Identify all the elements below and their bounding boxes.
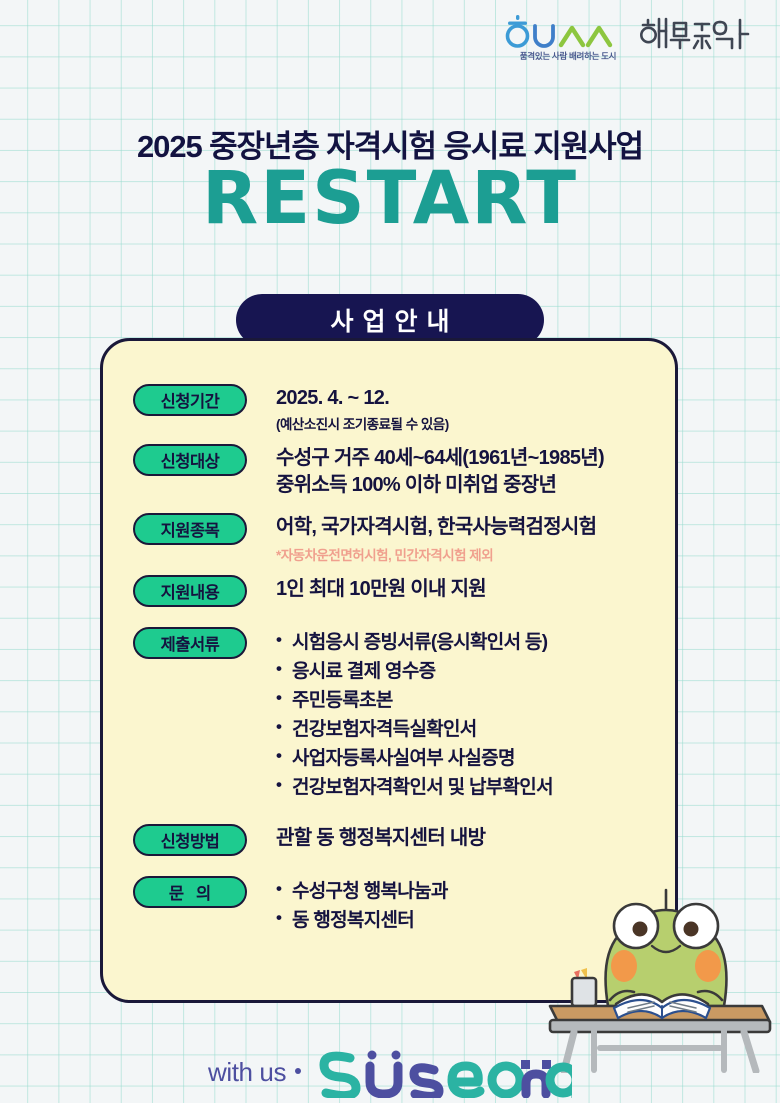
value-eligibility-line2: 중위소득 100% 이하 미취업 중장년 xyxy=(276,472,678,499)
footer-lockup: with us xyxy=(0,1046,780,1098)
poster-canvas: 품격있는 사람 배려하는 도시 xyxy=(0,0,780,1103)
subnote-application-period: (예산소진시 조기종료될 수 있음) xyxy=(276,413,678,433)
list-item: 건강보험자격확인서 및 납부확인서 xyxy=(276,773,678,802)
value-eligibility-line1: 수성구 거주 40세~64세(1961년~1985년) xyxy=(276,445,678,472)
label-pill-how-to-apply: 신청방법 xyxy=(133,824,247,856)
info-row-how-to-apply: 신청방법 관할 동 행정복지센터 내방 xyxy=(100,824,678,856)
suseong-symbol-mark: 품격있는 사람 배려하는 도시 xyxy=(504,15,632,62)
list-item: 사업자등록사실여부 사실증명 xyxy=(276,744,678,773)
brand-lockup: 품격있는 사람 배려하는 도시 xyxy=(504,14,766,62)
row-body-support-amount: 1인 최대 10만원 이내 지원 xyxy=(276,575,678,603)
footer-with-us-text: with us xyxy=(208,1057,286,1088)
value-how-to-apply: 관할 동 행정복지센터 내방 xyxy=(276,825,678,852)
required-documents-list: 시험응시 증빙서류(응시확인서 등) 응시료 결제 영수증 주민등록초본 건강보… xyxy=(276,628,678,802)
list-item: 건강보험자격득실확인서 xyxy=(276,715,678,744)
suseong-symbol-icon xyxy=(504,15,632,49)
list-item: 주민등록초본 xyxy=(276,686,678,715)
row-body-how-to-apply: 관할 동 행정복지센터 내방 xyxy=(276,824,678,852)
label-pill-support-amount: 지원내용 xyxy=(133,575,247,607)
label-pill-supported-exams: 지원종목 xyxy=(133,513,247,545)
info-row-supported-exams: 지원종목 어학, 국가자격시험, 한국사능력검정시험 *자동차운전면허시험, 민… xyxy=(100,513,678,564)
exclusion-note: *자동차운전면허시험, 민간자격시험 제외 xyxy=(276,544,678,564)
row-body-eligibility: 수성구 거주 40세~64세(1961년~1985년) 중위소득 100% 이하… xyxy=(276,444,678,499)
info-row-application-period: 신청기간 2025. 4. ~ 12. (예산소진시 조기종료될 수 있음) xyxy=(100,384,678,433)
row-body-required-documents: 시험응시 증빙서류(응시확인서 등) 응시료 결제 영수증 주민등록초본 건강보… xyxy=(276,627,678,802)
list-item: 응시료 결제 영수증 xyxy=(276,657,678,686)
happy-suseong-wordmark-icon xyxy=(640,14,766,62)
value-support-amount: 1인 최대 10만원 이내 지원 xyxy=(276,576,678,603)
suseong-wordmark-icon xyxy=(310,1046,572,1098)
restart-wordmark: RESTART xyxy=(0,162,780,235)
row-body-application-period: 2025. 4. ~ 12. (예산소진시 조기종료될 수 있음) xyxy=(276,384,678,433)
info-rows: 신청기간 2025. 4. ~ 12. (예산소진시 조기종료될 수 있음) 신… xyxy=(100,384,678,946)
label-pill-contact: 문의 xyxy=(133,876,247,908)
list-item: 시험응시 증빙서류(응시확인서 등) xyxy=(276,628,678,657)
value-application-period: 2025. 4. ~ 12. xyxy=(276,385,678,412)
label-pill-application-period: 신청기간 xyxy=(133,384,247,416)
label-pill-required-documents: 제출서류 xyxy=(133,627,247,659)
info-row-required-documents: 제출서류 시험응시 증빙서류(응시확인서 등) 응시료 결제 영수증 주민등록초… xyxy=(100,627,678,802)
info-row-eligibility: 신청대상 수성구 거주 40세~64세(1961년~1985년) 중위소득 10… xyxy=(100,444,678,499)
row-body-supported-exams: 어학, 국가자격시험, 한국사능력검정시험 *자동차운전면허시험, 민간자격시험… xyxy=(276,513,678,564)
info-row-support-amount: 지원내용 1인 최대 10만원 이내 지원 xyxy=(100,575,678,607)
label-pill-eligibility: 신청대상 xyxy=(133,444,247,476)
value-supported-exams: 어학, 국가자격시험, 한국사능력검정시험 xyxy=(276,514,678,541)
brand-tagline: 품격있는 사람 배려하는 도시 xyxy=(520,50,616,62)
footer-separator-dot xyxy=(295,1068,301,1074)
